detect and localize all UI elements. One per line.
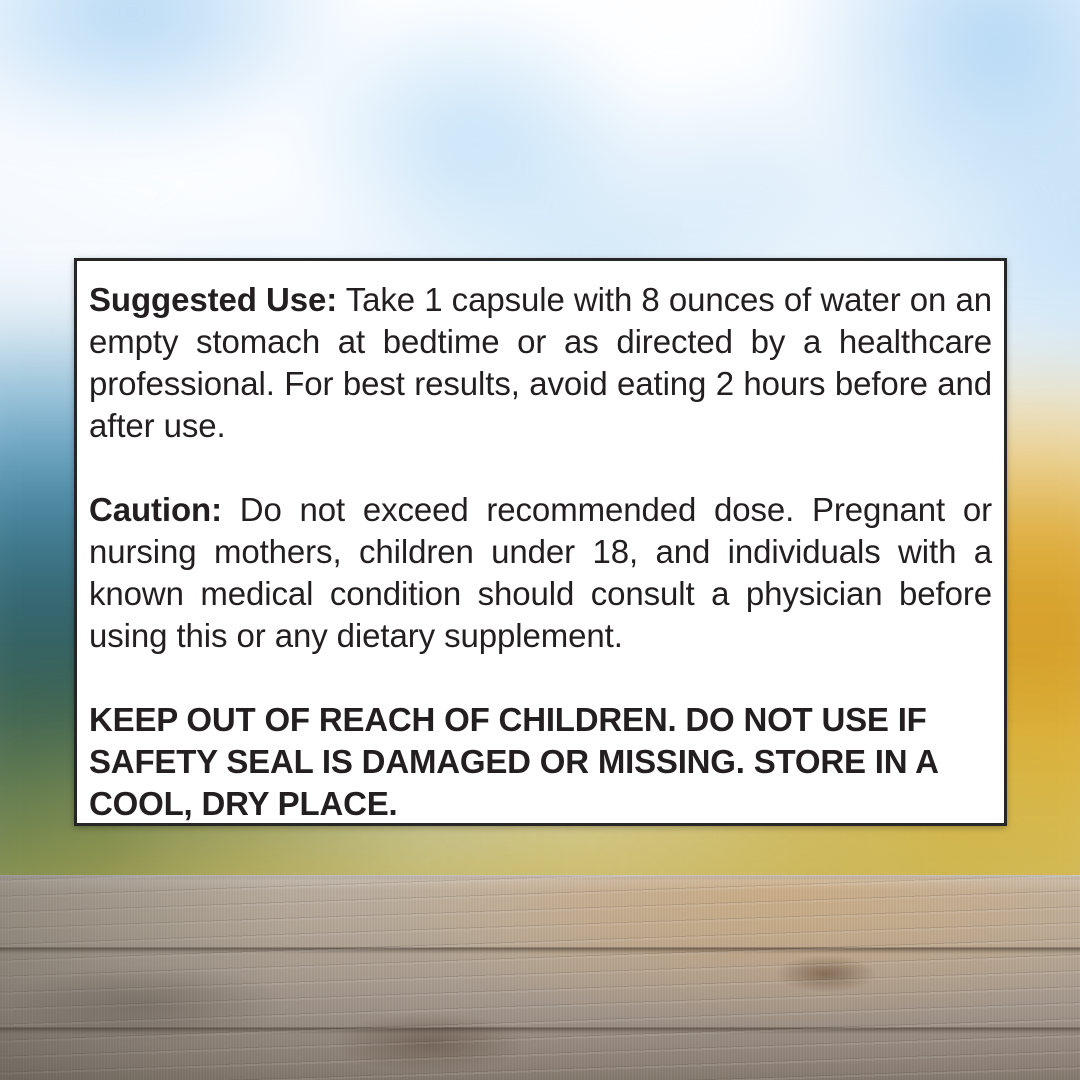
- suggested-use-heading: Suggested Use:: [89, 281, 337, 318]
- supplement-label-panel: Suggested Use: Take 1 capsule with 8 oun…: [74, 258, 1007, 826]
- caution-paragraph: Caution: Do not exceed recommended dose.…: [89, 489, 992, 657]
- wooden-table-surface: [0, 875, 1080, 1080]
- keep-out-of-reach-warning: KEEP OUT OF REACH OF CHILDREN. DO NOT US…: [89, 699, 992, 825]
- caution-body: Do not exceed recommended dose. Pregnant…: [89, 491, 992, 654]
- label-text-container: Suggested Use: Take 1 capsule with 8 oun…: [77, 261, 1004, 825]
- suggested-use-paragraph: Suggested Use: Take 1 capsule with 8 oun…: [89, 279, 992, 447]
- product-label-scene: Suggested Use: Take 1 capsule with 8 oun…: [0, 0, 1080, 1080]
- caution-heading: Caution:: [89, 491, 222, 528]
